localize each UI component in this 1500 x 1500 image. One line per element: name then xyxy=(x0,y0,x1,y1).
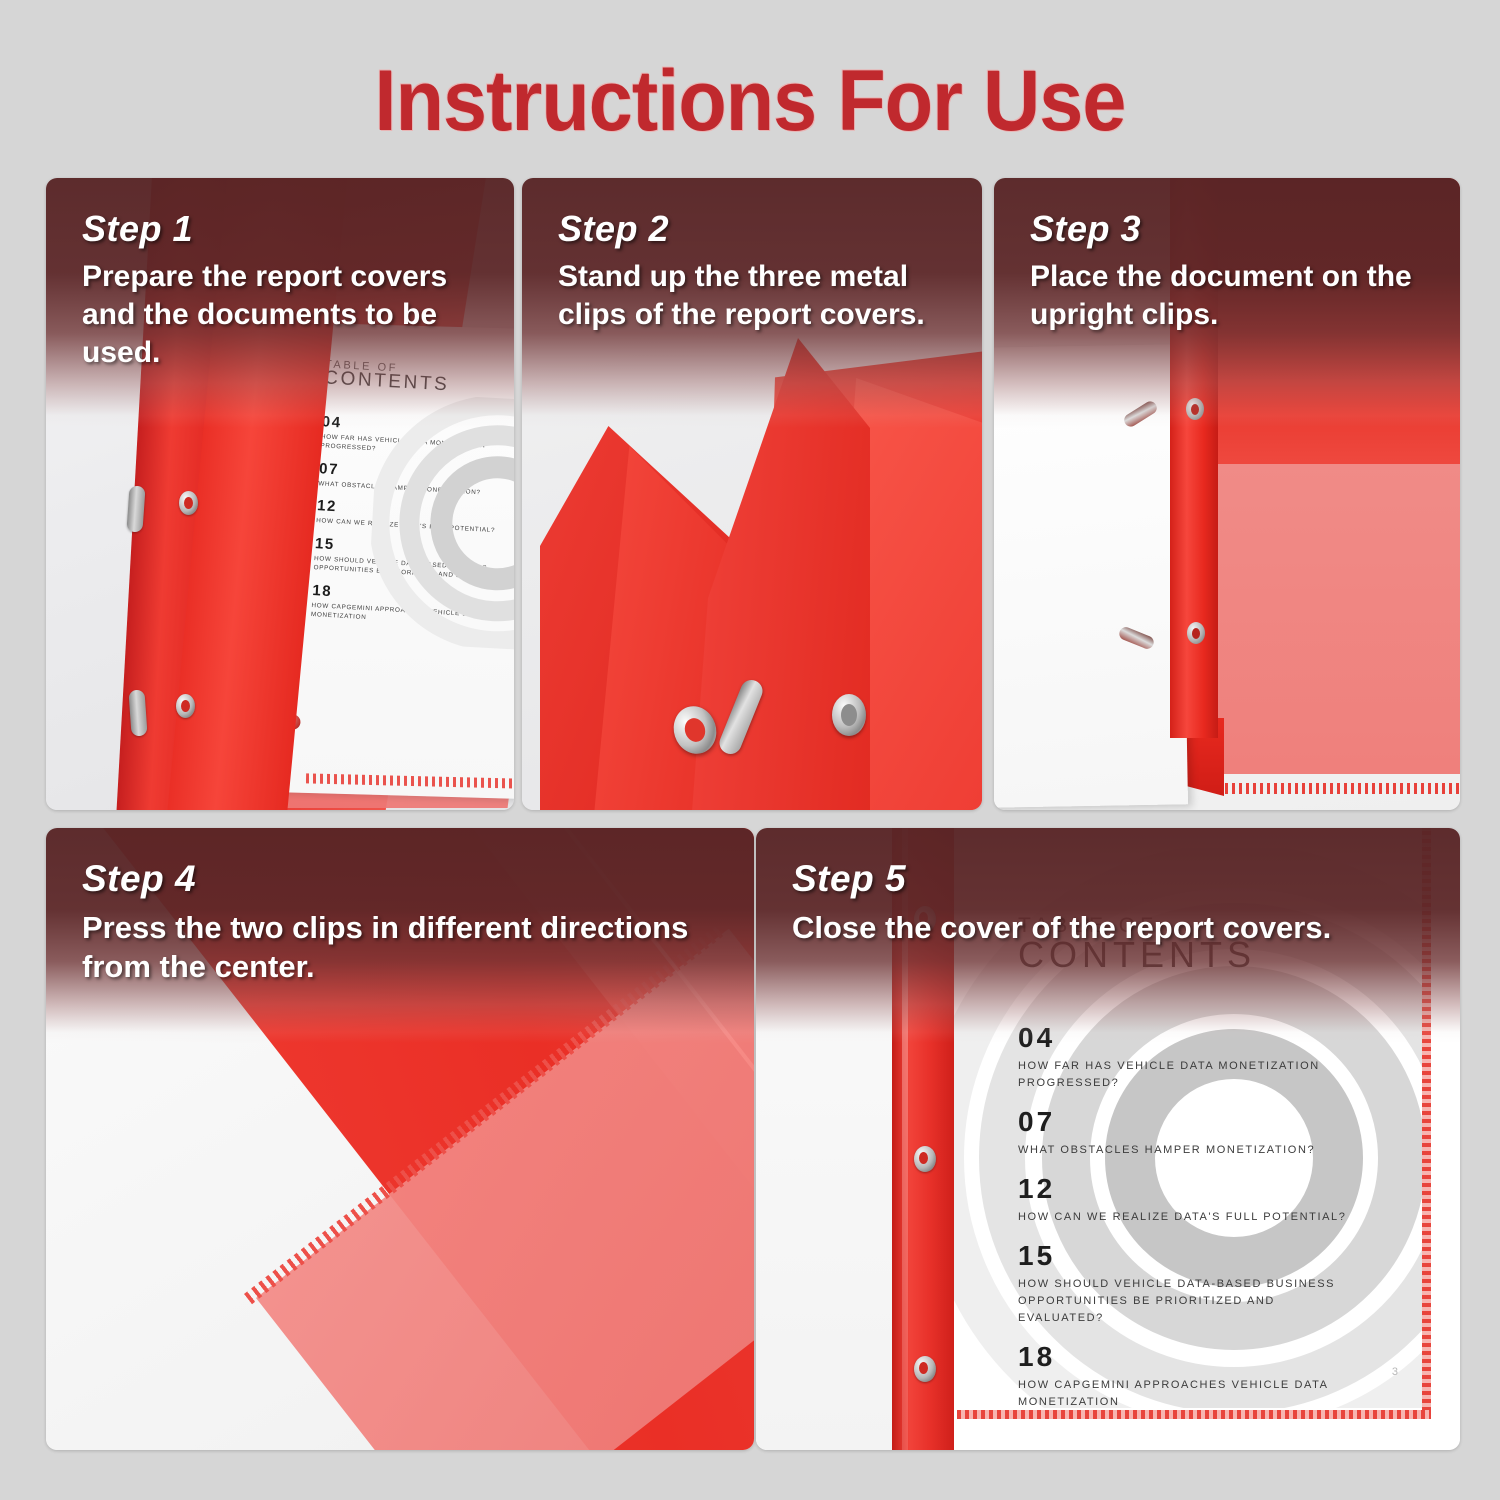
step-5-caption: Step 5 Close the cover of the report cov… xyxy=(792,858,1436,947)
concentric-rings-graphic xyxy=(366,391,514,655)
document-sheet xyxy=(994,344,1188,807)
step-panel-4: Step 4 Press the two clips in different … xyxy=(46,828,754,1450)
grommet-eyelet xyxy=(832,694,866,736)
step-label: Step 1 xyxy=(82,208,490,250)
grommet-eyelet xyxy=(176,694,195,718)
step-panel-2: Step 2 Stand up the three metal clips of… xyxy=(522,178,982,810)
toc-entry-number: 15 xyxy=(1018,1240,1348,1272)
instructions-infographic: Instructions For Use TABLE OF CONTENTS 0… xyxy=(0,0,1500,1500)
grommet-eyelet xyxy=(1186,398,1204,420)
step-description: Press the two clips in different directi… xyxy=(82,908,730,986)
step-4-caption: Step 4 Press the two clips in different … xyxy=(82,858,730,986)
mini-table-of-contents: TABLE OF CONTENTS 04 HOW FAR HAS VEHICLE… xyxy=(311,358,514,631)
metal-clip xyxy=(126,485,145,532)
toc-entry-text: HOW CAN WE REALIZE DATA'S FULL POTENTIAL… xyxy=(1018,1209,1348,1226)
metal-clip xyxy=(128,689,147,736)
toc-entry-list: 04 HOW FAR HAS VEHICLE DATA MONETIZATION… xyxy=(1018,1022,1348,1411)
page-number: 3 xyxy=(1392,1366,1398,1378)
grommet-eyelet xyxy=(914,1356,936,1382)
step-description: Close the cover of the report covers. xyxy=(792,908,1436,947)
step-panel-3: Step 3 Place the document on the upright… xyxy=(994,178,1460,810)
step-label: Step 5 xyxy=(792,858,1436,900)
step-1-caption: Step 1 Prepare the report covers and the… xyxy=(82,208,490,371)
grommet-eyelet xyxy=(179,491,198,515)
step-panel-1: TABLE OF CONTENTS 04 HOW FAR HAS VEHICLE… xyxy=(46,178,514,810)
step-2-caption: Step 2 Stand up the three metal clips of… xyxy=(558,208,958,334)
toc-entry-number: 18 xyxy=(1018,1341,1348,1373)
step-description: Stand up the three metal clips of the re… xyxy=(558,258,958,334)
page-title: Instructions For Use xyxy=(60,52,1440,151)
step-description: Place the document on the upright clips. xyxy=(1030,258,1436,334)
table-of-contents: TABLE OF CONTENTS 04 HOW FAR HAS VEHICLE… xyxy=(1018,914,1348,1411)
toc-entry-text: HOW CAPGEMINI APPROACHES VEHICLE DATA MO… xyxy=(1018,1377,1348,1411)
toc-entry-number: 07 xyxy=(1018,1106,1348,1138)
folder-pocket xyxy=(1216,464,1460,774)
grommet-eyelet xyxy=(914,1146,936,1172)
step-description: Prepare the report covers and the docume… xyxy=(82,258,490,371)
step-3-caption: Step 3 Place the document on the upright… xyxy=(1030,208,1436,334)
step-label: Step 4 xyxy=(82,858,730,900)
toc-entry-text: HOW SHOULD VEHICLE DATA-BASED BUSINESS O… xyxy=(1018,1276,1348,1327)
step-label: Step 3 xyxy=(1030,208,1436,250)
toc-entry-number: 04 xyxy=(1018,1022,1348,1054)
pocket-ribbed-edge xyxy=(1218,783,1460,794)
toc-entry-text: WHAT OBSTACLES HAMPER MONETIZATION? xyxy=(1018,1142,1348,1159)
folder-cover-mid xyxy=(1216,390,1460,470)
toc-entry-text: HOW FAR HAS VEHICLE DATA MONETIZATION PR… xyxy=(1018,1058,1348,1092)
grommet-eyelet xyxy=(1187,622,1205,644)
toc-entry-number: 12 xyxy=(1018,1173,1348,1205)
step-label: Step 2 xyxy=(558,208,958,250)
step-panel-5: TABLE OF CONTENTS 04 HOW FAR HAS VEHICLE… xyxy=(756,828,1460,1450)
